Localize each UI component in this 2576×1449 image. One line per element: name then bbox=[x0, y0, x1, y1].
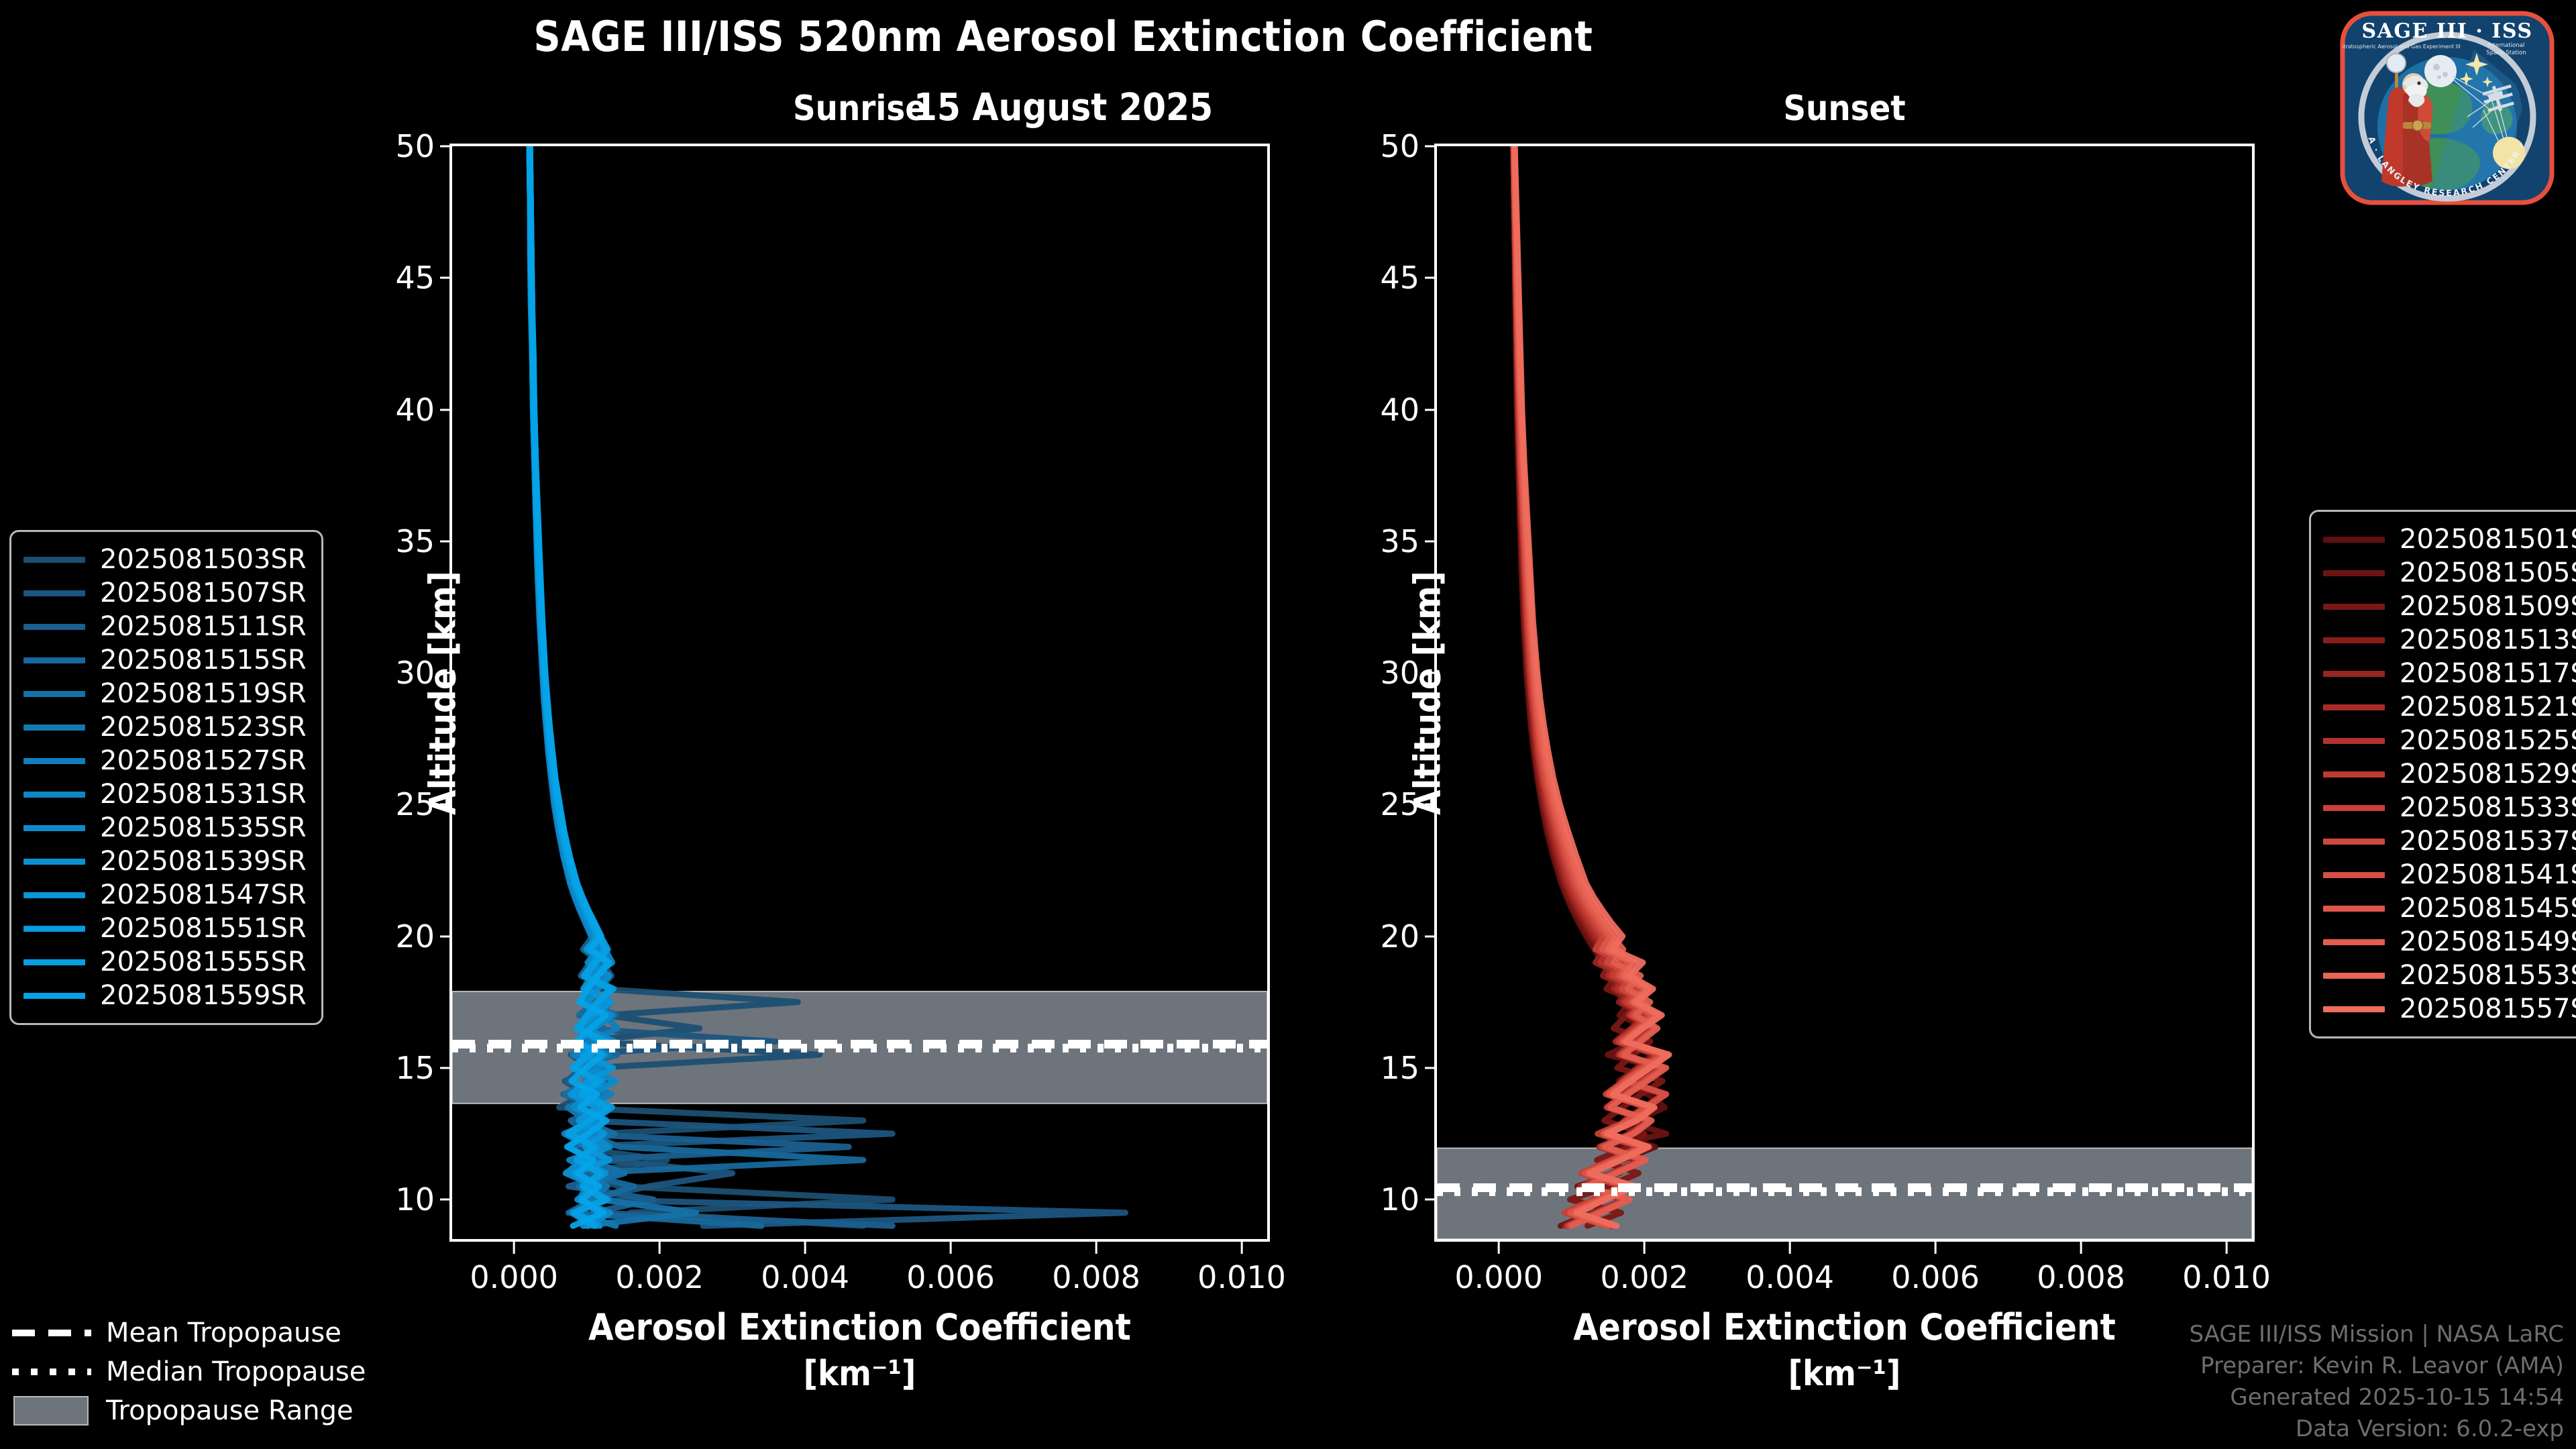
y-tick-mark bbox=[1425, 935, 1437, 937]
credits-line-4: Data Version: 6.0.2-exp bbox=[2189, 1413, 2564, 1445]
x-tick-mark bbox=[950, 1242, 952, 1254]
x-tick-0.006: 0.006 bbox=[906, 1259, 995, 1295]
sunset-legend-item[interactable]: 2025081549SS bbox=[2323, 925, 2576, 959]
credits-line-3: Generated 2025-10-15 14:54 bbox=[2189, 1382, 2564, 1413]
y-tick-40: 40 bbox=[1380, 392, 1419, 428]
legend-color-swatch bbox=[23, 557, 85, 563]
legend-item-label: 2025081519SR bbox=[100, 678, 307, 709]
x-tick-0.000: 0.000 bbox=[470, 1259, 558, 1295]
sunset-legend-item[interactable]: 2025081517SS bbox=[2323, 657, 2576, 690]
sunrise-legend-item[interactable]: 2025081559SR bbox=[23, 979, 307, 1012]
y-axis-title-right: Altitude [km] bbox=[1406, 571, 1448, 815]
y-tick-mark bbox=[1425, 1067, 1437, 1069]
legend-color-swatch bbox=[2323, 671, 2385, 677]
sunrise-legend-item[interactable]: 2025081551SR bbox=[23, 912, 307, 945]
legend-color-swatch bbox=[2323, 637, 2385, 643]
sunset-legend-item[interactable]: 2025081513SS bbox=[2323, 623, 2576, 657]
sunrise-legend-item[interactable]: 2025081531SR bbox=[23, 777, 307, 811]
legend-item-label: 2025081539SR bbox=[100, 846, 307, 877]
x-tick-mark bbox=[1644, 1242, 1646, 1254]
legend-color-swatch bbox=[23, 691, 85, 697]
legend-color-swatch bbox=[23, 926, 85, 932]
y-tick-35: 35 bbox=[395, 523, 435, 559]
y-tick-mark bbox=[440, 935, 452, 937]
legend-item-label: 2025081515SR bbox=[100, 645, 307, 676]
legend-item-label: 2025081545SS bbox=[2400, 893, 2576, 924]
sunrise-legend-item[interactable]: 2025081515SR bbox=[23, 643, 307, 677]
y-tick-35: 35 bbox=[1380, 523, 1419, 559]
logo-title: SAGE III · ISS bbox=[2361, 19, 2532, 43]
y-tick-mark bbox=[1425, 804, 1437, 806]
sunrise-legend-item[interactable]: 2025081511SR bbox=[23, 610, 307, 643]
logo-subtitle-right-1: International bbox=[2488, 42, 2525, 49]
x-axis-title-right-text: Aerosol Extinction Coefficient bbox=[1573, 1306, 2116, 1348]
sunset-legend-item[interactable]: 2025081537SS bbox=[2323, 824, 2576, 858]
sunrise-legend-item[interactable]: 2025081547SR bbox=[23, 878, 307, 912]
credits-block: SAGE III/ISS Mission | NASA LaRCPreparer… bbox=[2189, 1319, 2564, 1445]
sunrise-legend-item[interactable]: 2025081539SR bbox=[23, 845, 307, 878]
y-tick-mark bbox=[440, 804, 452, 806]
legend-color-swatch bbox=[23, 859, 85, 865]
legend-color-swatch bbox=[23, 724, 85, 731]
sunset-legend-item[interactable]: 2025081501SS bbox=[2323, 523, 2576, 556]
legend-item-label: 2025081517SS bbox=[2400, 658, 2576, 689]
legend-color-swatch bbox=[2323, 704, 2385, 710]
legend-color-swatch bbox=[2323, 1006, 2385, 1012]
y-tick-mark bbox=[1425, 277, 1437, 279]
sunset-legend-item[interactable]: 2025081553SS bbox=[2323, 959, 2576, 992]
y-tick-mark bbox=[440, 409, 452, 411]
sunset-legend-item[interactable]: 2025081541SS bbox=[2323, 858, 2576, 892]
legend-item-label: 2025081557SS bbox=[2400, 994, 2576, 1024]
dashed-line-glyph bbox=[12, 1330, 91, 1336]
y-tick-mark bbox=[440, 1067, 452, 1069]
sunset-legend-item[interactable]: 2025081521SS bbox=[2323, 690, 2576, 724]
legend-color-swatch bbox=[2323, 805, 2385, 811]
sunrise-legend-item[interactable]: 2025081507SR bbox=[23, 576, 307, 610]
legend-color-swatch bbox=[23, 657, 85, 663]
x-tick-mark bbox=[513, 1242, 515, 1254]
y-tick-30: 30 bbox=[395, 655, 435, 691]
legend-color-swatch bbox=[2323, 973, 2385, 979]
tropopause-legend-label: Median Tropopause bbox=[106, 1356, 366, 1387]
shaded-band-swatch bbox=[12, 1403, 91, 1419]
legend-item-label: 2025081535SR bbox=[100, 812, 307, 843]
legend-item-label: 2025081505SS bbox=[2400, 557, 2576, 588]
x-tick-0.000: 0.000 bbox=[1454, 1259, 1543, 1295]
x-tick-mark bbox=[804, 1242, 806, 1254]
legend-color-swatch bbox=[23, 792, 85, 798]
legend-item-label: 2025081509SS bbox=[2400, 591, 2576, 622]
tropopause-legend-label: Tropopause Range bbox=[106, 1395, 354, 1426]
shaded-band-glyph bbox=[13, 1396, 89, 1426]
legend-color-swatch bbox=[2323, 537, 2385, 543]
tropopause-legend-item-shaded-band: Tropopause Range bbox=[12, 1391, 366, 1430]
x-tick-mark bbox=[1935, 1242, 1937, 1254]
x-axis-title-right: Aerosol Extinction Coefficient [km⁻¹] bbox=[1437, 1303, 2252, 1397]
y-tick-10: 10 bbox=[1380, 1181, 1419, 1218]
legend-item-label: 2025081551SR bbox=[100, 913, 307, 944]
y-tick-50: 50 bbox=[395, 128, 435, 164]
y-tick-mark bbox=[440, 277, 452, 279]
dotted-line-swatch bbox=[12, 1364, 91, 1380]
legend-item-label: 2025081513SS bbox=[2400, 625, 2576, 655]
sage-iii-iss-mission-patch-logo: SAGE III · ISS Stratospheric Aerosol and… bbox=[2333, 9, 2561, 205]
logo-subtitle-left: Stratospheric Aerosol and Gas Experiment… bbox=[2340, 44, 2460, 50]
y-tick-mark bbox=[1425, 409, 1437, 411]
legend-item-label: 2025081523SR bbox=[100, 712, 307, 743]
y-tick-mark bbox=[440, 146, 452, 148]
legend-item-label: 2025081511SR bbox=[100, 611, 307, 642]
legend-item-label: 2025081527SR bbox=[100, 745, 307, 776]
x-axis-unit-right: [km⁻¹] bbox=[1437, 1351, 2252, 1397]
legend-color-swatch bbox=[2323, 939, 2385, 945]
y-tick-30: 30 bbox=[1380, 655, 1419, 691]
x-tick-0.004: 0.004 bbox=[1746, 1259, 1834, 1295]
x-tick-0.008: 0.008 bbox=[2037, 1259, 2125, 1295]
y-tick-50: 50 bbox=[1380, 128, 1419, 164]
y-tick-45: 45 bbox=[1380, 260, 1419, 296]
legend-item-label: 2025081547SR bbox=[100, 879, 307, 910]
sunset-legend-item[interactable]: 2025081545SS bbox=[2323, 892, 2576, 925]
legend-item-label: 2025081541SS bbox=[2400, 859, 2576, 890]
legend-item-label: 2025081503SR bbox=[100, 544, 307, 575]
legend-color-swatch bbox=[2323, 872, 2385, 878]
x-tick-0.010: 0.010 bbox=[2182, 1259, 2271, 1295]
sunrise-legend-item[interactable]: 2025081535SR bbox=[23, 811, 307, 845]
legend-item-label: 2025081507SR bbox=[100, 578, 307, 608]
legend-color-swatch bbox=[2323, 906, 2385, 912]
sunrise-profile-svg bbox=[452, 146, 1267, 1239]
y-tick-25: 25 bbox=[395, 786, 435, 822]
legend-sunrise[interactable]: 2025081503SR2025081507SR2025081511SR2025… bbox=[9, 530, 323, 1025]
legend-color-swatch bbox=[2323, 839, 2385, 845]
legend-color-swatch bbox=[2323, 738, 2385, 744]
x-tick-0.002: 0.002 bbox=[1600, 1259, 1688, 1295]
x-tick-mark bbox=[1498, 1242, 1500, 1254]
x-tick-mark bbox=[1241, 1242, 1243, 1254]
legend-item-label: 2025081559SR bbox=[100, 980, 307, 1011]
sunset-legend-item[interactable]: 2025081509SS bbox=[2323, 590, 2576, 623]
panel-title-sunset: Sunset bbox=[1434, 89, 2255, 129]
legend-color-swatch bbox=[2323, 570, 2385, 576]
mission-patch-svg: SAGE III · ISS Stratospheric Aerosol and… bbox=[2333, 9, 2561, 205]
y-tick-mark bbox=[1425, 146, 1437, 148]
sunset-legend-item[interactable]: 2025081533SS bbox=[2323, 791, 2576, 824]
x-axis-unit-left: [km⁻¹] bbox=[452, 1351, 1267, 1397]
x-tick-mark bbox=[2226, 1242, 2228, 1254]
sunset-profile-svg bbox=[1437, 146, 2252, 1239]
tropopause-legend-item-dashed-line: Mean Tropopause bbox=[12, 1313, 366, 1352]
sunset-legend-item[interactable]: 2025081557SS bbox=[2323, 992, 2576, 1026]
legend-item-label: 2025081521SS bbox=[2400, 692, 2576, 722]
legend-item-label: 2025081501SS bbox=[2400, 524, 2576, 555]
legend-item-label: 2025081549SS bbox=[2400, 926, 2576, 957]
x-tick-0.004: 0.004 bbox=[761, 1259, 849, 1295]
panel-title-sunrise: Sunrise bbox=[449, 89, 1270, 129]
y-tick-40: 40 bbox=[395, 392, 435, 428]
x-tick-0.002: 0.002 bbox=[615, 1259, 704, 1295]
sunset-legend-item[interactable]: 2025081529SS bbox=[2323, 757, 2576, 791]
y-tick-mark bbox=[440, 1199, 452, 1201]
sunrise-legend-item[interactable]: 2025081519SR bbox=[23, 677, 307, 710]
y-tick-45: 45 bbox=[395, 260, 435, 296]
legend-color-swatch bbox=[23, 993, 85, 999]
tropopause-legend-label: Mean Tropopause bbox=[106, 1318, 341, 1348]
legend-item-label: 2025081537SS bbox=[2400, 826, 2576, 857]
y-tick-15: 15 bbox=[395, 1050, 435, 1086]
tropopause-legend-item-dotted-line: Median Tropopause bbox=[12, 1352, 366, 1391]
legend-item-label: 2025081525SS bbox=[2400, 725, 2576, 756]
legend-item-label: 2025081533SS bbox=[2400, 792, 2576, 823]
x-tick-mark bbox=[2080, 1242, 2082, 1254]
y-tick-25: 25 bbox=[1380, 786, 1419, 822]
sunset-legend-item[interactable]: 2025081505SS bbox=[2323, 556, 2576, 590]
y-tick-mark bbox=[1425, 672, 1437, 674]
y-tick-20: 20 bbox=[395, 918, 435, 955]
x-tick-mark bbox=[1095, 1242, 1097, 1254]
legend-item-label: 2025081553SS bbox=[2400, 960, 2576, 991]
credits-line-2: Preparer: Kevin R. Leavor (AMA) bbox=[2189, 1350, 2564, 1382]
sunrise-legend-item[interactable]: 2025081527SR bbox=[23, 744, 307, 777]
y-axis-title-left: Altitude [km] bbox=[421, 571, 464, 815]
tropopause-legend: Mean TropopauseMedian TropopauseTropopau… bbox=[12, 1313, 366, 1430]
logo-subtitle-right-2: Space Station bbox=[2486, 50, 2526, 56]
y-tick-mark bbox=[440, 672, 452, 674]
legend-color-swatch bbox=[23, 590, 85, 596]
legend-sunset[interactable]: 2025081501SS2025081505SS2025081509SS2025… bbox=[2309, 510, 2576, 1038]
legend-item-label: 2025081531SR bbox=[100, 779, 307, 810]
sunset-legend-item[interactable]: 2025081525SS bbox=[2323, 724, 2576, 757]
x-axis-title-left-text: Aerosol Extinction Coefficient bbox=[588, 1306, 1131, 1348]
page-title: SAGE III/ISS 520nm Aerosol Extinction Co… bbox=[0, 12, 2127, 61]
y-tick-mark bbox=[1425, 540, 1437, 542]
legend-color-swatch bbox=[2323, 604, 2385, 610]
plot-panel-sunrise: Altitude [km] Aerosol Extinction Coeffic… bbox=[449, 144, 1270, 1242]
dashed-line-swatch bbox=[12, 1325, 91, 1341]
dotted-line-glyph bbox=[12, 1368, 91, 1375]
legend-item-label: 2025081529SS bbox=[2400, 759, 2576, 790]
y-tick-15: 15 bbox=[1380, 1050, 1419, 1086]
y-tick-mark bbox=[1425, 1199, 1437, 1201]
x-axis-title-left: Aerosol Extinction Coefficient [km⁻¹] bbox=[452, 1303, 1267, 1397]
legend-color-swatch bbox=[23, 758, 85, 764]
credits-line-1: SAGE III/ISS Mission | NASA LaRC bbox=[2189, 1319, 2564, 1350]
y-tick-10: 10 bbox=[395, 1181, 435, 1218]
legend-color-swatch bbox=[23, 624, 85, 630]
y-tick-20: 20 bbox=[1380, 918, 1419, 955]
sunrise-legend-item[interactable]: 2025081503SR bbox=[23, 543, 307, 576]
y-tick-mark bbox=[440, 540, 452, 542]
legend-color-swatch bbox=[23, 959, 85, 965]
legend-color-swatch bbox=[2323, 771, 2385, 777]
x-tick-mark bbox=[659, 1242, 661, 1254]
plot-panel-sunset: Altitude [km] Aerosol Extinction Coeffic… bbox=[1434, 144, 2255, 1242]
sunrise-legend-item[interactable]: 2025081523SR bbox=[23, 710, 307, 744]
x-tick-0.006: 0.006 bbox=[1891, 1259, 1980, 1295]
sunrise-legend-item[interactable]: 2025081555SR bbox=[23, 945, 307, 979]
x-tick-mark bbox=[1789, 1242, 1791, 1254]
legend-item-label: 2025081555SR bbox=[100, 947, 307, 977]
legend-color-swatch bbox=[23, 892, 85, 898]
legend-color-swatch bbox=[23, 825, 85, 831]
x-tick-0.008: 0.008 bbox=[1052, 1259, 1140, 1295]
x-tick-0.010: 0.010 bbox=[1197, 1259, 1286, 1295]
